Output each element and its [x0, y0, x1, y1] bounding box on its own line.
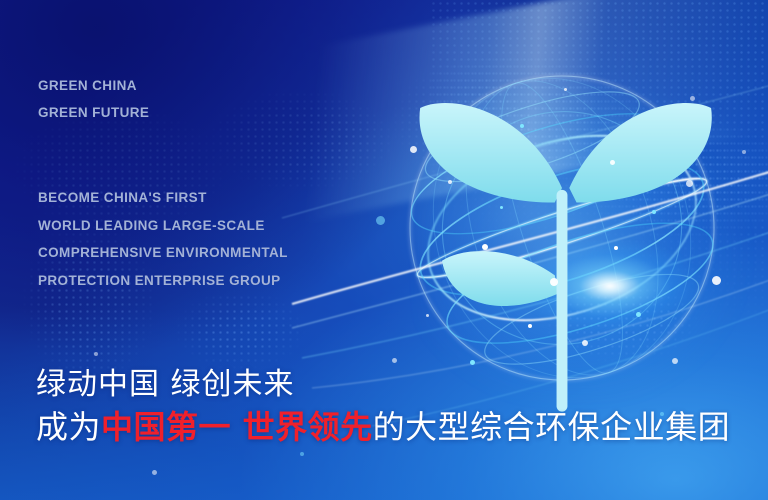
tagline-line-2: GREEN FUTURE: [38, 99, 149, 126]
tagline-line-1: GREEN CHINA: [38, 72, 149, 99]
headline-line-2: 成为中国第一 世界领先的大型综合环保企业集团: [36, 405, 730, 449]
mission-line-2: WORLD LEADING LARGE-SCALE: [38, 212, 288, 240]
headline-prefix: 成为: [36, 408, 101, 446]
hero-banner: GREEN CHINA GREEN FUTURE BECOME CHINA'S …: [0, 0, 768, 500]
headline-suffix: 的大型综合环保企业集团: [373, 408, 731, 446]
mission-statement-block: BECOME CHINA'S FIRST WORLD LEADING LARGE…: [38, 184, 288, 294]
headline-line-1: 绿动中国 绿创未来: [36, 365, 730, 405]
mission-line-1: BECOME CHINA'S FIRST: [38, 184, 288, 212]
mission-line-4: PROTECTION ENTERPRISE GROUP: [38, 267, 288, 295]
headline-block: 绿动中国 绿创未来 成为中国第一 世界领先的大型综合环保企业集团: [36, 365, 730, 449]
tagline-block: GREEN CHINA GREEN FUTURE: [38, 72, 149, 126]
mission-line-3: COMPREHENSIVE ENVIRONMENTAL: [38, 239, 288, 267]
headline-highlight: 中国第一 世界领先: [101, 408, 373, 446]
